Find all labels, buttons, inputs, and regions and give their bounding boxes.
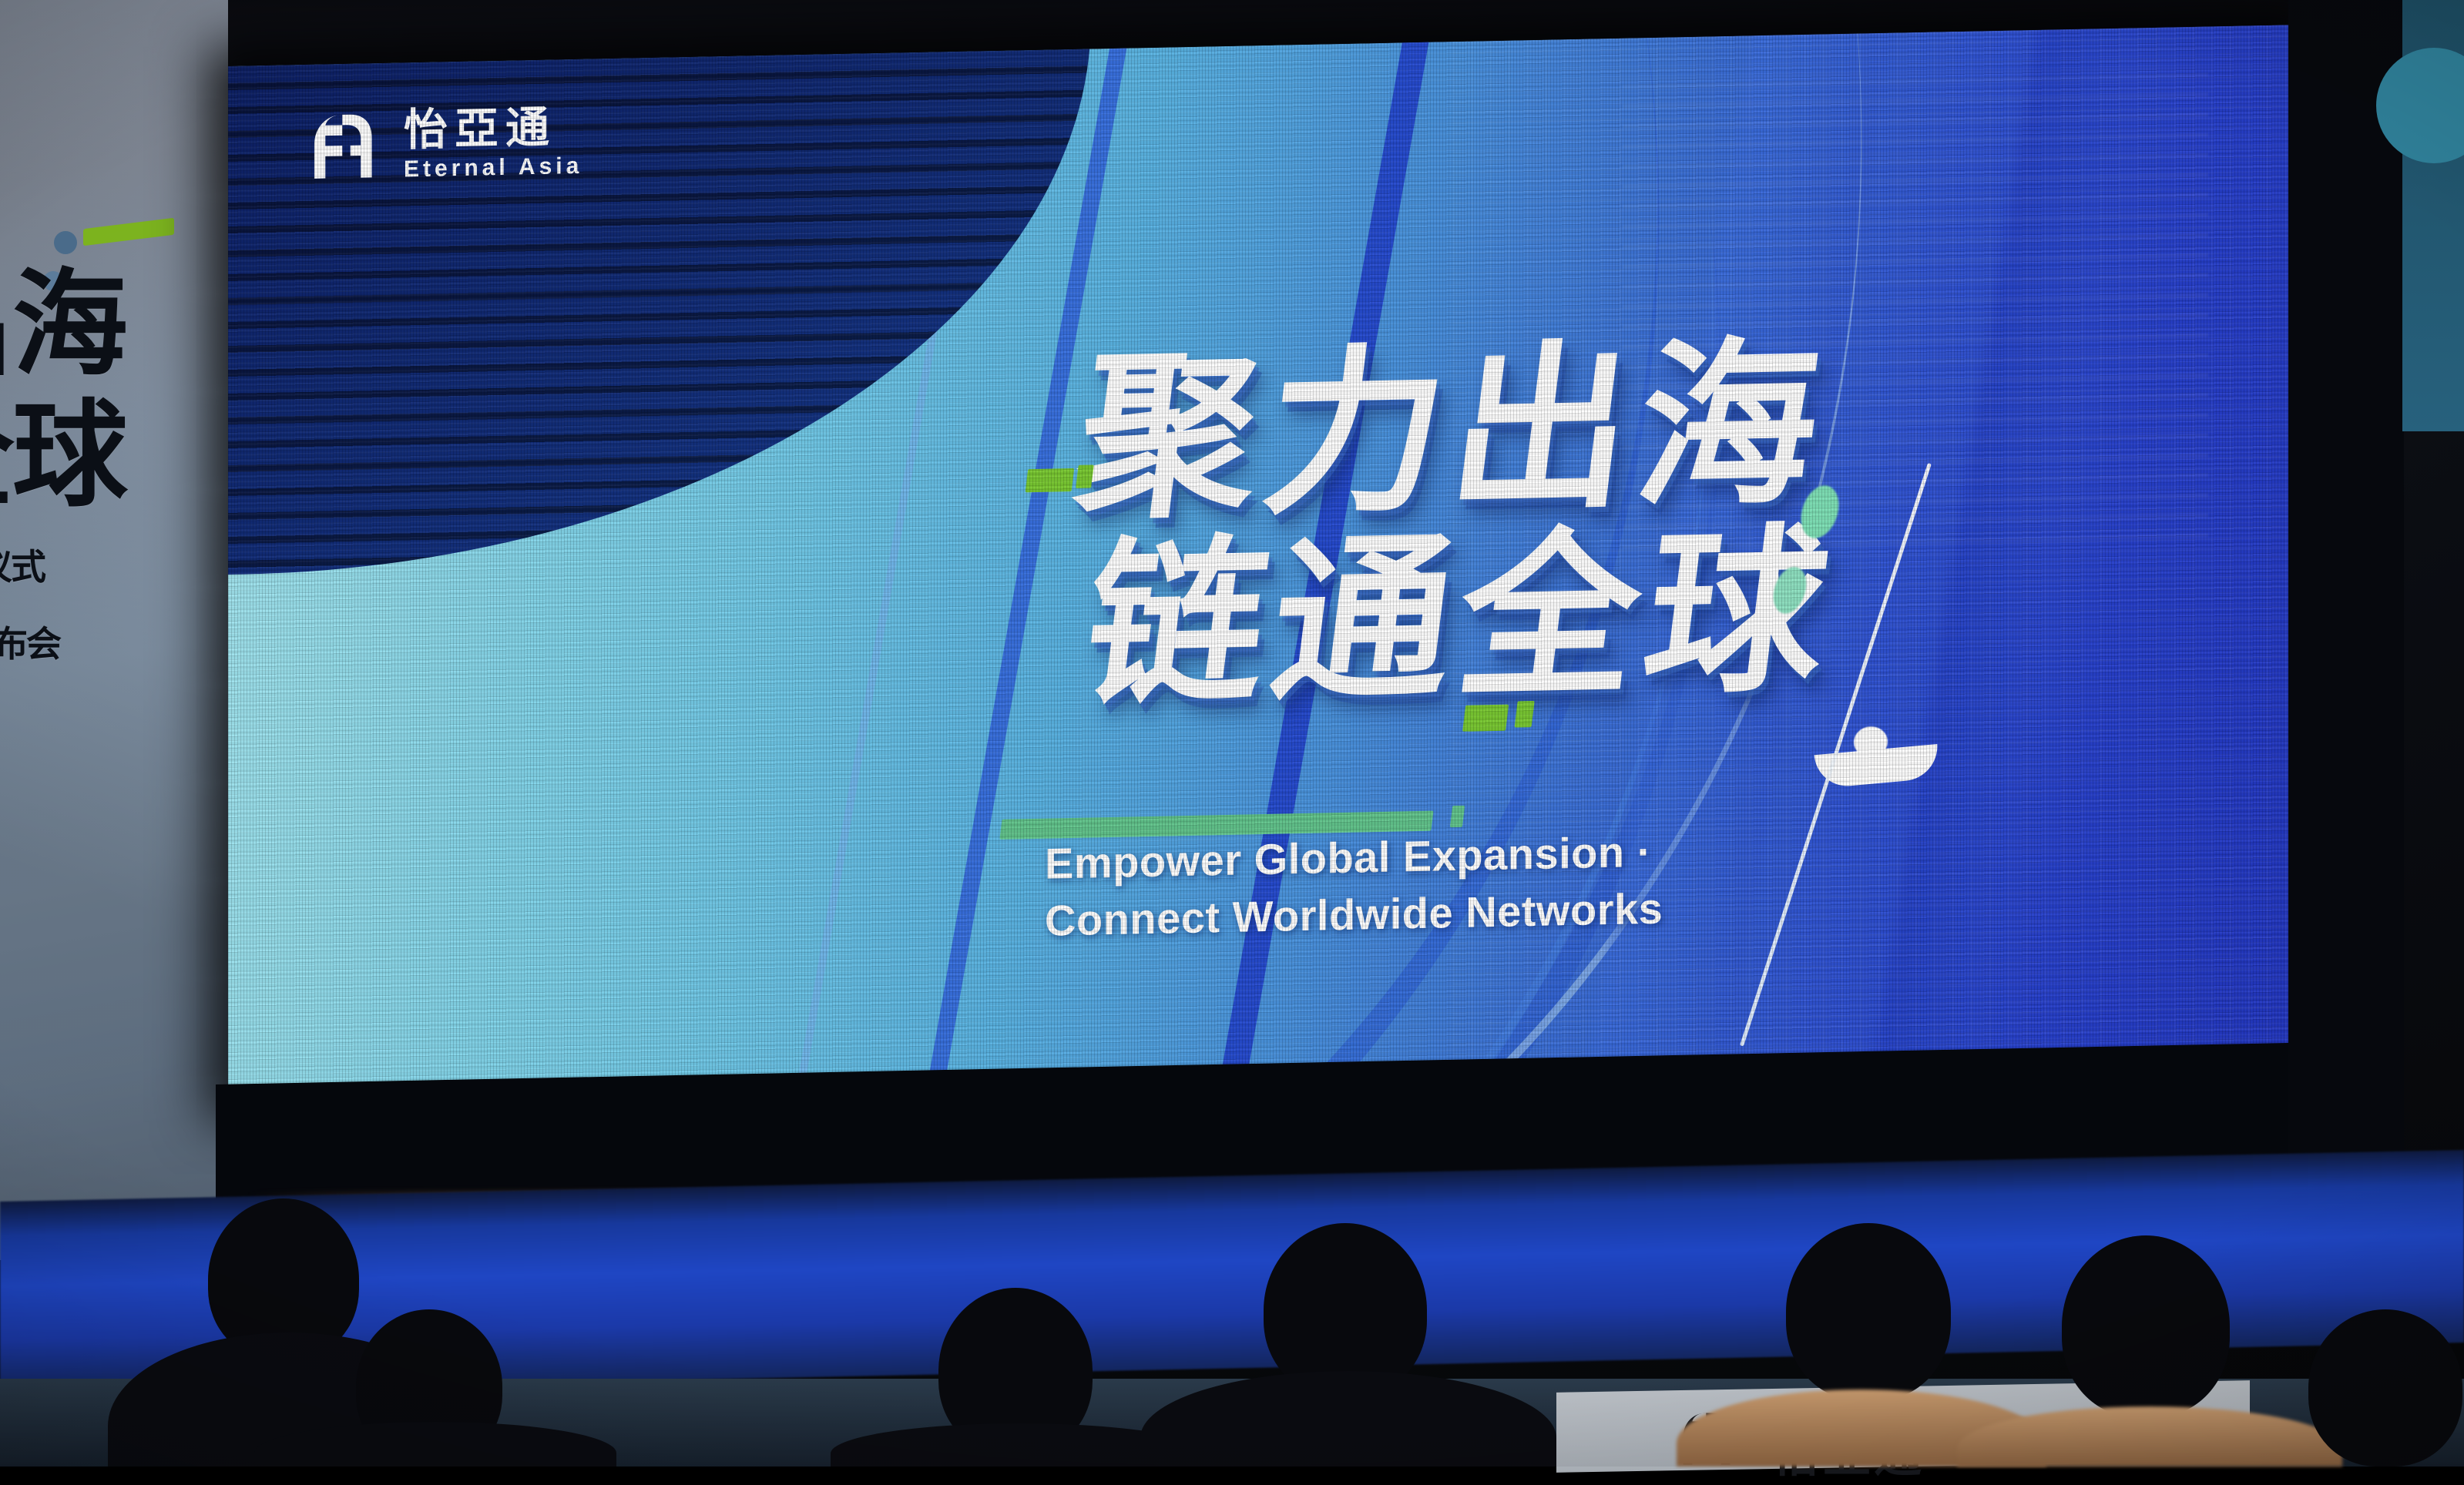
banner-subtitle-1: 启动仪式 xyxy=(0,539,45,590)
venue-background: 出海 全球 启动仪式 战略发布会 xyxy=(0,0,2464,1467)
slide-subtitle: Empower Global Expansion · Connect World… xyxy=(1045,823,1663,950)
ea-monogram-icon xyxy=(310,112,384,180)
green-accent-mark xyxy=(1076,464,1094,488)
brand-name-en: Eternal Asia xyxy=(404,155,582,182)
green-accent-mark xyxy=(1026,468,1075,492)
right-accent-panel xyxy=(2402,0,2464,431)
led-display-screen: 怡亞通 Eternal Asia 聚力出海 链通全球 Empower Globa… xyxy=(228,25,2301,1102)
banner-subtitle-2: 战略发布会 xyxy=(0,616,60,667)
side-banner: 出海 全球 启动仪式 战略发布会 xyxy=(0,0,228,1260)
audience-head xyxy=(2308,1309,2462,1467)
brand-logo-lockup: 怡亞通 Eternal Asia xyxy=(310,106,582,183)
headline-line-2: 链通全球 xyxy=(1076,514,2116,717)
brand-name-cn: 怡亞通 xyxy=(404,106,582,153)
green-accent-mark xyxy=(1462,705,1509,732)
audience-head xyxy=(1786,1223,1951,1400)
green-accent-mark xyxy=(1515,701,1535,728)
screen-bezel-right xyxy=(2288,0,2404,1202)
banner-headline-line2: 全球 xyxy=(0,362,126,529)
audience-head xyxy=(2062,1235,2230,1417)
slide-headline: 聚力出海 链通全球 xyxy=(1046,327,2139,718)
headline-line-1: 聚力出海 xyxy=(1068,327,2138,531)
